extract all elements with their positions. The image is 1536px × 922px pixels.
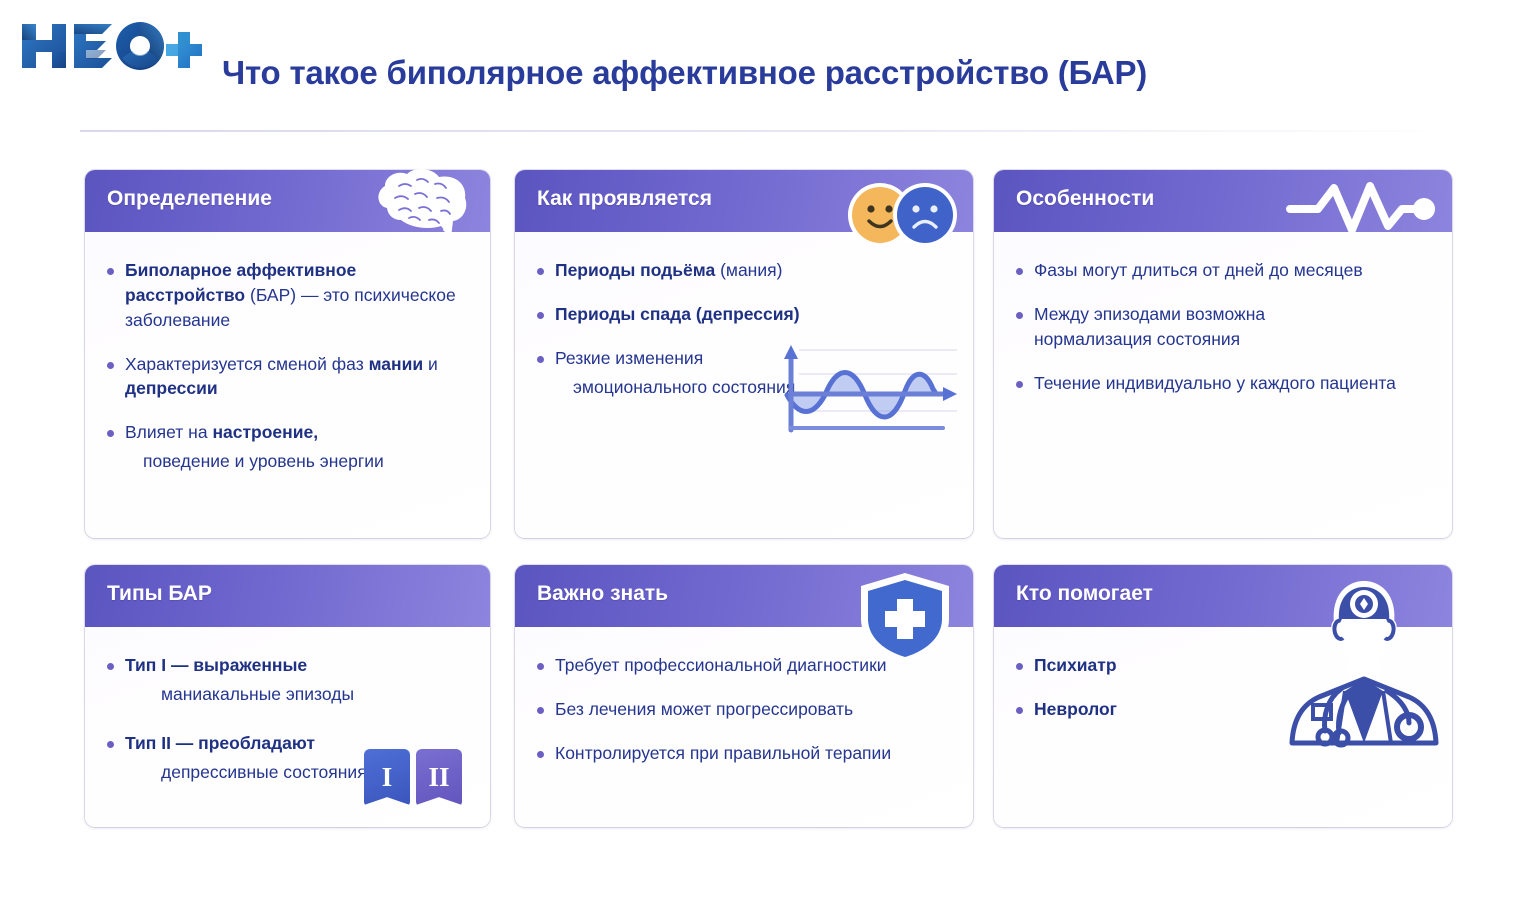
list-item: Тип I — выраженные [107,653,468,678]
card-definition[interactable]: Определепение [85,170,490,538]
list-item: Течение индивидуально у каждого пациента [1016,371,1430,396]
bullet-text: Тип I — выраженные [125,653,307,678]
card-features[interactable]: Особенности Фазы могут длиться от дней д… [994,170,1452,538]
page-header: Что такое биполярное аффективное расстро… [0,0,1536,132]
card-definition-title: Определепение [107,187,272,211]
bullet-text: Невролог [1034,697,1117,722]
bullet-bold: Психиатр [1034,655,1117,675]
card-types[interactable]: Типы БАР Тип I — выраженные маниакальные… [85,565,490,827]
list-item: Контролируется при правильной терапии [537,741,951,766]
bullet-dot [107,430,114,437]
bullet-text: Контролируется при правильной терапии [555,741,891,766]
list-item: Невролог [1016,697,1430,722]
bullet-dot [537,707,544,714]
bullet-subline: маниакальные эпизоды [107,682,468,707]
type-badge-one: I [364,749,410,805]
card-types-header: Типы БАР [85,565,490,627]
card-important-header: Важно знать [515,565,973,627]
bullet-text: Влияет на настроение, [125,420,318,445]
card-types-title: Типы БАР [107,582,212,606]
list-item: Характеризуется сменой фаз мании и депре… [107,352,468,402]
bullet-bold: настроение, [212,422,318,442]
bullet-text: Периоды подьёма (мания) [555,258,782,283]
card-definition-body: Биполарное аффективное расстройство (БАР… [85,232,490,484]
bullet-dot [107,663,114,670]
list-item: Периоды подьёма (мания) [537,258,951,283]
bullet-dot [107,268,114,275]
bullet-text: Требует профессиональной диагностики [555,653,887,678]
bullet-text: Без лечения может прогрессировать [555,697,853,722]
card-symptoms-header: Как проявляется [515,170,973,232]
bullet-dot [107,362,114,369]
bullet-dot [537,312,544,319]
type-badges-icon: I II [364,749,462,805]
bullet-bold: Тип I — выраженные [125,655,307,675]
bullet-text: Психиатр [1034,653,1117,678]
list-item: Влияет на настроение, [107,420,468,445]
bullet-text: Периоды спада (депрессия) [555,302,800,327]
list-item: Психиатр [1016,653,1430,678]
bullet-dot [537,268,544,275]
list-item: Биполарное аффективное расстройство (БАР… [107,258,468,333]
bullet-dot [1016,707,1023,714]
bullet-bold-2: депрессии [125,378,218,398]
card-who-helps-header: Кто помогает [994,565,1452,627]
bullet-plain: Влияет на [125,422,212,442]
bullet-dot [1016,663,1023,670]
bullet-dot [537,663,544,670]
card-who-helps[interactable]: Кто помогает [994,565,1452,827]
card-important[interactable]: Важно знать Требует профессиональной диа… [515,565,973,827]
bullet-text: Характеризуется сменой фаз мании и депре… [125,352,468,402]
bullet-dot [1016,381,1023,388]
bullet-subline: поведение и уровень энергии [107,449,468,474]
card-definition-header: Определепение [85,170,490,232]
card-symptoms[interactable]: Как проявляется Периоды подьёма (мания) [515,170,973,538]
bullet-bold: Невролог [1034,699,1117,719]
card-features-body: Фазы могут длиться от дней до месяцев Ме… [994,232,1452,424]
bullet-dot [537,751,544,758]
list-item: Фазы могут длиться от дней до месяцев [1016,258,1430,283]
header-divider [80,130,1460,132]
bullet-text: Резкие изменения [555,346,703,371]
card-who-helps-body: Психиатр Невролог [994,627,1452,751]
list-item: Требует профессиональной диагностики [537,653,951,678]
bullet-dot [1016,268,1023,275]
bullet-plain: Характеризуется сменой фаз [125,354,369,374]
bullet-bold: Тип II — преобладают [125,733,315,753]
bullet-tail: и [423,354,438,374]
card-features-header: Особенности [994,170,1452,232]
list-item: Периоды спада (депрессия) [537,302,951,327]
brand-logo [18,18,204,76]
type-badge-two: II [416,749,462,805]
list-item: Между эпизодами возможна нормализация со… [1016,302,1430,352]
bullet-text: Тип II — преобладают [125,731,315,756]
card-features-title: Особенности [1016,187,1154,211]
sine-wave-chart-icon [773,333,963,438]
card-important-body: Требует профессиональной диагностики Без… [515,627,973,795]
page-title: Что такое биполярное аффективное расстро… [222,54,1147,92]
card-symptoms-title: Как проявляется [537,187,712,211]
bullet-dot [107,741,114,748]
bullet-text: Между эпизодами возможна нормализация со… [1034,302,1334,352]
list-item: Без лечения может прогрессировать [537,697,951,722]
bullet-bold: Периоды спада (депрессия) [555,304,800,324]
bullet-dot [537,356,544,363]
bullet-bold: Периоды подьёма [555,260,715,280]
bullet-bold: мании [369,354,424,374]
bullet-rest: (мания) [715,260,782,280]
bullet-text: Биполарное аффективное расстройство (БАР… [125,258,468,333]
card-important-title: Важно знать [537,582,668,606]
bullet-dot [1016,312,1023,319]
card-who-helps-title: Кто помогает [1016,582,1153,606]
bullet-text: Фазы могут длиться от дней до месяцев [1034,258,1363,283]
bullet-text: Течение индивидуально у каждого пациента [1034,371,1396,396]
bullet-plain: Резкие изменения [555,348,703,368]
